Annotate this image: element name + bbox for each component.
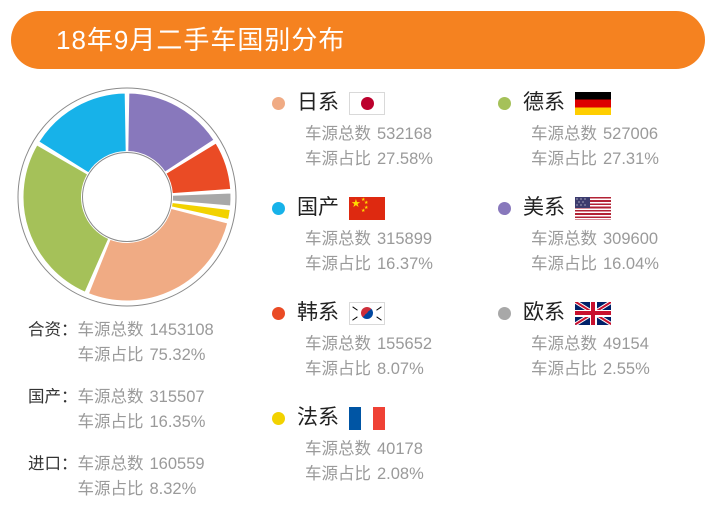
legend-head: 法系	[272, 403, 492, 433]
legend-total-line: 车源总数527006	[531, 122, 718, 147]
legend-total-line: 车源总数309600	[531, 227, 718, 252]
summary-share-value: 8.32%	[150, 480, 197, 498]
legend-item-germany: 德系 车源总数527006 车源占比27.31%	[498, 88, 718, 172]
summary-row: 合资： 车源总数1453108 车源占比75.32%	[28, 318, 273, 368]
legend-dot-icon	[272, 202, 285, 215]
summary-total-label: 车源总数	[78, 321, 144, 339]
summary-share-label: 车源占比	[78, 346, 144, 364]
legend-total-label: 车源总数	[531, 335, 597, 353]
legend-share-value: 27.31%	[603, 150, 659, 168]
legend-share-label: 车源占比	[531, 255, 597, 273]
legend-total-value: 309600	[603, 230, 658, 248]
legend-share-value: 2.55%	[603, 360, 650, 378]
korea-flag-icon	[349, 302, 385, 325]
summary-values: 车源总数1453108 车源占比75.32%	[78, 318, 214, 368]
legend-detail: 车源总数40178 车源占比2.08%	[305, 437, 492, 487]
legend-head: 韩系	[272, 298, 492, 328]
legend-total-label: 车源总数	[531, 125, 597, 143]
donut-slices	[23, 93, 231, 301]
legend-dot-icon	[272, 307, 285, 320]
legend-total-line: 车源总数315899	[305, 227, 492, 252]
summary-row: 国产： 车源总数315507 车源占比16.35%	[28, 385, 273, 435]
legend-detail: 车源总数49154 车源占比2.55%	[531, 332, 718, 382]
legend-dot-icon	[272, 97, 285, 110]
legend-item-japan: 日系 车源总数532168 车源占比27.58%	[272, 88, 492, 172]
summary-row: 进口： 车源总数160559 车源占比8.32%	[28, 452, 273, 502]
legend-share-value: 16.04%	[603, 255, 659, 273]
summary-share-line: 车源占比16.35%	[78, 410, 206, 435]
legend: 日系 车源总数532168 车源占比27.58% 德系 车源总数527006 车…	[272, 88, 712, 488]
legend-total-label: 车源总数	[305, 440, 371, 458]
legend-head: 欧系	[498, 298, 718, 328]
legend-dot-icon	[498, 97, 511, 110]
legend-item-korea: 韩系 车源总数155652 车源占比8.07%	[272, 298, 492, 382]
legend-total-line: 车源总数49154	[531, 332, 718, 357]
summary-total-line: 车源总数315507	[78, 385, 206, 410]
legend-total-line: 车源总数532168	[305, 122, 492, 147]
title-banner: 18年9月二手车国别分布	[11, 11, 705, 69]
france-flag-icon	[349, 407, 385, 430]
summary-label: 合资：	[28, 318, 78, 343]
legend-head: 美系	[498, 193, 718, 223]
legend-share-value: 27.58%	[377, 150, 433, 168]
legend-share-line: 车源占比2.55%	[531, 357, 718, 382]
summary-share-value: 16.35%	[150, 413, 206, 431]
summary-total-label: 车源总数	[78, 455, 144, 473]
legend-item-france: 法系 车源总数40178 车源占比2.08%	[272, 403, 492, 487]
summary-total-line: 车源总数1453108	[78, 318, 214, 343]
legend-head: 日系	[272, 88, 492, 118]
donut-inner-ring	[83, 153, 172, 242]
uk-flag-icon	[575, 302, 611, 325]
legend-head: 国产 ★★★★★	[272, 193, 492, 223]
donut-slice-日系	[88, 208, 227, 301]
legend-label: 国产	[297, 193, 339, 223]
donut-slice-德系	[23, 145, 109, 292]
legend-share-label: 车源占比	[531, 360, 597, 378]
summary-values: 车源总数315507 车源占比16.35%	[78, 385, 206, 435]
legend-detail: 车源总数532168 车源占比27.58%	[305, 122, 492, 172]
legend-detail: 车源总数155652 车源占比8.07%	[305, 332, 492, 382]
legend-share-label: 车源占比	[305, 360, 371, 378]
legend-share-value: 2.08%	[377, 465, 424, 483]
legend-item-usa: 美系 车源总数309600 车源占比16.04%	[498, 193, 718, 277]
summary-total-label: 车源总数	[78, 388, 144, 406]
legend-total-label: 车源总数	[305, 335, 371, 353]
legend-total-line: 车源总数40178	[305, 437, 492, 462]
legend-detail: 车源总数315899 车源占比16.37%	[305, 227, 492, 277]
legend-share-value: 8.07%	[377, 360, 424, 378]
summary-label: 进口：	[28, 452, 78, 477]
summary-share-line: 车源占比75.32%	[78, 343, 214, 368]
legend-share-line: 车源占比16.04%	[531, 252, 718, 277]
summary-total-value: 160559	[150, 455, 205, 473]
legend-total-value: 155652	[377, 335, 432, 353]
legend-total-value: 527006	[603, 125, 658, 143]
legend-share-label: 车源占比	[531, 150, 597, 168]
legend-total-label: 车源总数	[305, 230, 371, 248]
legend-head: 德系	[498, 88, 718, 118]
summary-total-value: 315507	[150, 388, 205, 406]
legend-dot-icon	[498, 307, 511, 320]
page-title: 18年9月二手车国别分布	[56, 11, 345, 69]
summary-block: 合资： 车源总数1453108 车源占比75.32% 国产： 车源总数31550…	[28, 318, 273, 502]
legend-dot-icon	[498, 202, 511, 215]
legend-total-label: 车源总数	[305, 125, 371, 143]
legend-share-label: 车源占比	[305, 255, 371, 273]
legend-total-value: 40178	[377, 440, 423, 458]
legend-label: 美系	[523, 193, 565, 223]
legend-total-value: 49154	[603, 335, 649, 353]
legend-share-label: 车源占比	[305, 150, 371, 168]
legend-detail: 车源总数527006 车源占比27.31%	[531, 122, 718, 172]
legend-total-value: 315899	[377, 230, 432, 248]
legend-item-europe: 欧系 车源总数49154 车源占比2.55%	[498, 298, 718, 382]
summary-share-value: 75.32%	[150, 346, 206, 364]
china-flag-icon: ★★★★★	[349, 197, 385, 220]
legend-share-line: 车源占比2.08%	[305, 462, 492, 487]
legend-total-value: 532168	[377, 125, 432, 143]
legend-label: 韩系	[297, 298, 339, 328]
summary-share-label: 车源占比	[78, 480, 144, 498]
summary-share-line: 车源占比8.32%	[78, 477, 205, 502]
donut-chart-svg	[16, 86, 238, 308]
legend-item-china: 国产 ★★★★★ 车源总数315899 车源占比16.37%	[272, 193, 492, 277]
legend-label: 德系	[523, 88, 565, 118]
legend-total-line: 车源总数155652	[305, 332, 492, 357]
legend-label: 法系	[297, 403, 339, 433]
legend-share-label: 车源占比	[305, 465, 371, 483]
legend-share-line: 车源占比16.37%	[305, 252, 492, 277]
summary-share-label: 车源占比	[78, 413, 144, 431]
legend-share-line: 车源占比8.07%	[305, 357, 492, 382]
legend-detail: 车源总数309600 车源占比16.04%	[531, 227, 718, 277]
legend-dot-icon	[272, 412, 285, 425]
legend-total-label: 车源总数	[531, 230, 597, 248]
donut-chart	[16, 86, 238, 308]
summary-total-line: 车源总数160559	[78, 452, 205, 477]
legend-label: 日系	[297, 88, 339, 118]
legend-label: 欧系	[523, 298, 565, 328]
legend-share-line: 车源占比27.31%	[531, 147, 718, 172]
legend-share-value: 16.37%	[377, 255, 433, 273]
summary-values: 车源总数160559 车源占比8.32%	[78, 452, 205, 502]
japan-flag-icon	[349, 92, 385, 115]
legend-share-line: 车源占比27.58%	[305, 147, 492, 172]
summary-total-value: 1453108	[150, 321, 214, 339]
summary-label: 国产：	[28, 385, 78, 410]
usa-flag-icon	[575, 197, 611, 220]
germany-flag-icon	[575, 92, 611, 115]
